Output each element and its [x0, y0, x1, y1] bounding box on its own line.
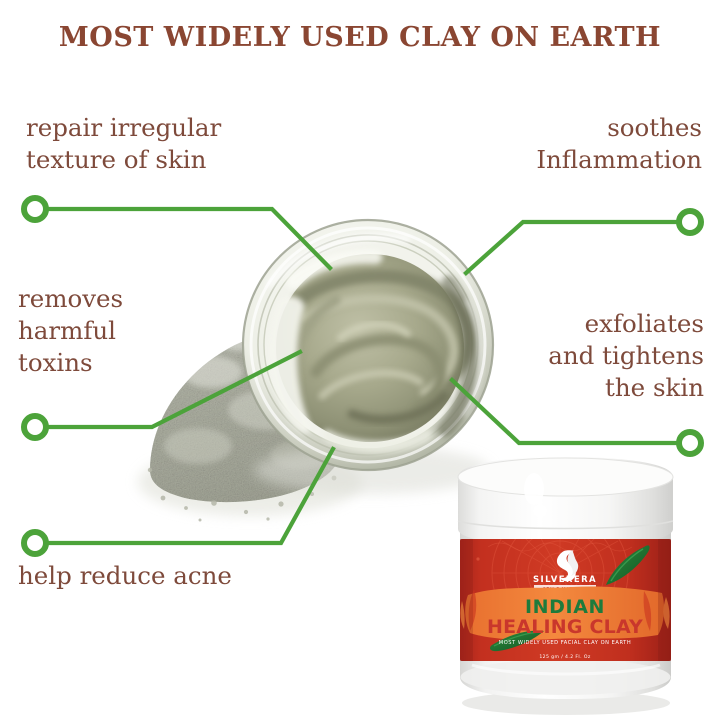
connector-acne [45, 449, 333, 543]
marker-acne [24, 532, 46, 554]
benefit-label-removes: removes harmful toxins [18, 283, 248, 379]
net-weight: 125 gm / 4.2 Fl. Oz [539, 654, 591, 660]
connector-soothes [466, 222, 682, 273]
marker-removes [24, 416, 46, 438]
benefit-label-acne: help reduce acne [18, 560, 338, 592]
benefit-label-exfoliates: exfoliates and tightens the skin [404, 308, 704, 404]
benefit-label-repair: repair irregular texture of skin [26, 112, 326, 176]
marker-repair [24, 198, 46, 220]
marker-soothes [679, 211, 701, 233]
infographic-canvas: MOST WIDELY USED CLAY ON EARTH [0, 0, 720, 720]
brand-name: SILVERERA [533, 575, 597, 585]
product-name-line1: INDIAN [525, 596, 605, 618]
connector-repair [45, 209, 330, 268]
benefit-label-soothes: soothes Inflammation [382, 112, 702, 176]
product-name-line2: HEALING CLAY [487, 616, 643, 638]
product-descriptor: MOST WIDELY USED FACIAL CLAY ON EARTH [499, 640, 631, 646]
product-jar: SILVERERA STYLE MATTERS INDIAN HEALING C… [448, 455, 683, 717]
marker-exfoliates [679, 432, 701, 454]
